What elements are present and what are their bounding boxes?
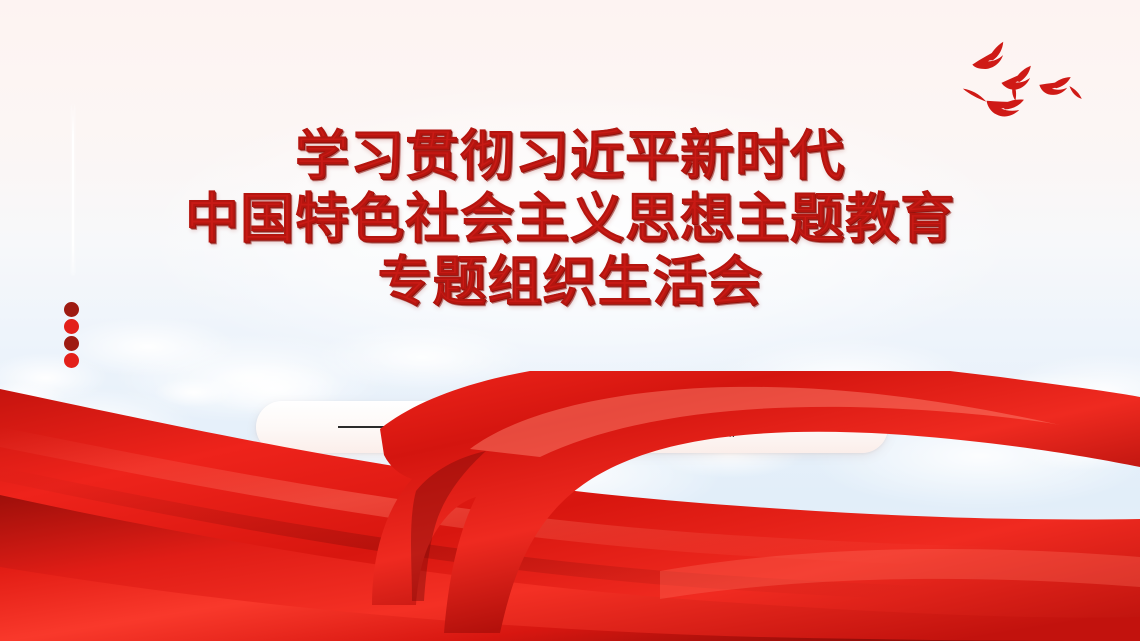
decorative-dot [64, 353, 79, 368]
dove-icon [1000, 66, 1034, 102]
title-line-1: 学习贯彻习近平新时代 [0, 128, 1140, 182]
dove-icon [969, 42, 1008, 72]
doves-group [955, 35, 1085, 125]
dove-icon [1038, 73, 1084, 99]
decorative-dot [64, 336, 79, 351]
title-line-2: 中国特色社会主义思想主题教育 [0, 191, 1140, 245]
page-title: 学习贯彻习近平新时代 中国特色社会主义思想主题教育 专题组织生活会 [0, 128, 1140, 308]
title-line-3: 专题组织生活会 [0, 254, 1140, 308]
decorative-dot [64, 319, 79, 334]
red-silk-ribbon [0, 371, 1140, 641]
decorative-dots [64, 302, 82, 370]
presentation-slide: 学习贯彻习近平新时代 中国特色社会主义思想主题教育 专题组织生活会 传播学院20… [0, 0, 1140, 641]
